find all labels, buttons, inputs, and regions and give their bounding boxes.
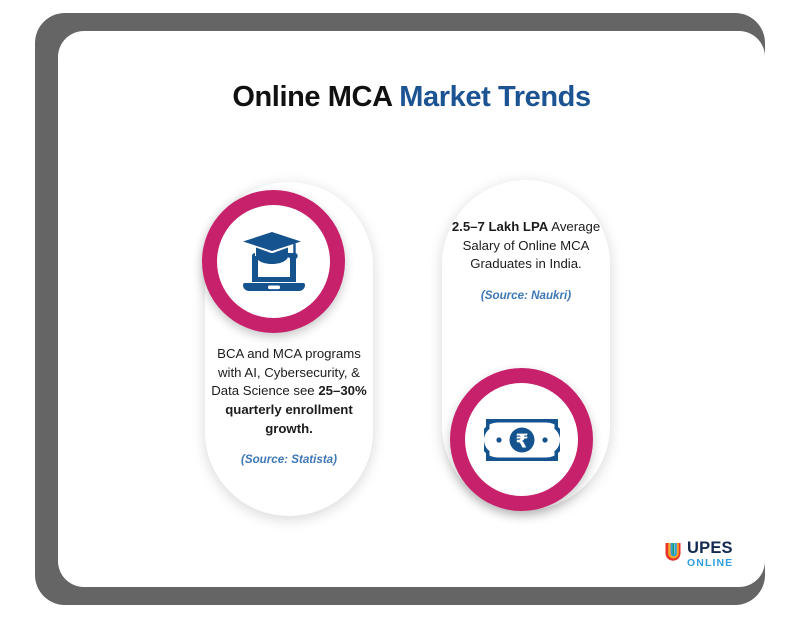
upes-online-logo[interactable]: UPES ONLINE bbox=[663, 538, 741, 570]
salary-body-bold: 2.5–7 Lakh LPA bbox=[452, 219, 549, 234]
page-title: Online MCA Market Trends bbox=[58, 80, 765, 115]
svg-text:₹: ₹ bbox=[515, 430, 528, 452]
salary-source-label: (Source: Naukri) bbox=[444, 288, 608, 304]
icon-ring-salary: ₹ bbox=[450, 368, 593, 511]
logo-secondary-text: ONLINE bbox=[687, 558, 733, 569]
logo-primary-text: UPES bbox=[687, 540, 733, 557]
rupee-banknote-icon: ₹ bbox=[484, 417, 560, 463]
page-title-blue: Market Trends bbox=[399, 81, 590, 113]
stat-card-salary-text: 2.5–7 Lakh LPA Average Salary of Online … bbox=[444, 218, 608, 305]
infographic-canvas: Online MCA Market Trends bbox=[0, 0, 800, 621]
icon-ring-enrollment bbox=[202, 190, 345, 333]
stat-card-enrollment-text: BCA and MCA programs with AI, Cybersecur… bbox=[208, 345, 370, 468]
upes-logo-text: UPES ONLINE bbox=[687, 540, 733, 568]
upes-swoosh-icon bbox=[663, 541, 684, 567]
page-title-dark: Online MCA bbox=[232, 81, 391, 113]
graduation-cap-laptop-icon bbox=[237, 227, 311, 297]
enrollment-source-label: (Source: Statista) bbox=[208, 452, 370, 468]
